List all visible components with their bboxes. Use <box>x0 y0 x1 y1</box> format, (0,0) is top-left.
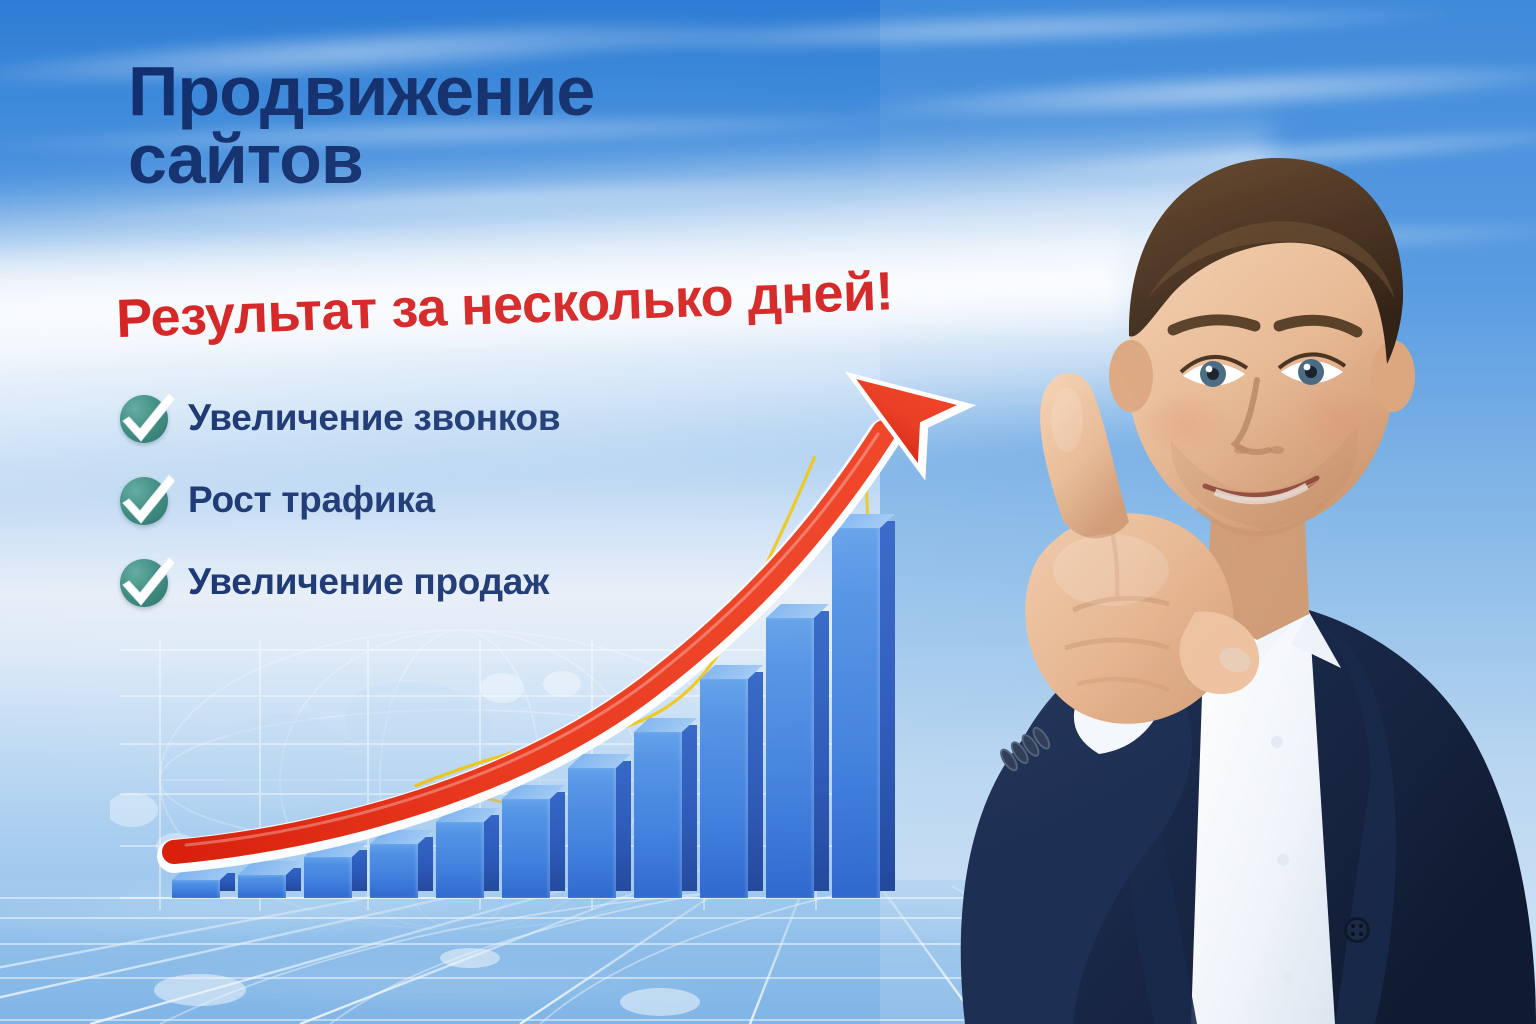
banner-root: Продвижение сайтов Результат за нескольк… <box>0 0 1536 1024</box>
benefit-label: Рост трафика <box>188 479 435 521</box>
check-circle-icon <box>118 473 172 527</box>
bar <box>832 528 880 898</box>
bar <box>766 618 814 899</box>
headline-line-2: сайтов <box>128 126 828 194</box>
businessman-pointing <box>905 0 1536 1024</box>
bar <box>172 880 220 898</box>
benefit-item: Увеличение продаж <box>118 546 738 618</box>
bar <box>502 799 550 898</box>
page-title: Продвижение сайтов <box>128 58 828 194</box>
bar <box>634 732 682 898</box>
benefit-label: Увеличение продаж <box>188 561 549 603</box>
headline-line-1: Продвижение <box>128 58 828 126</box>
benefits-list: Увеличение звонковРост трафикаУвеличение… <box>118 382 738 628</box>
check-circle-icon <box>118 391 172 445</box>
benefit-item: Увеличение звонков <box>118 382 738 454</box>
bar <box>370 844 418 898</box>
bar <box>436 822 484 899</box>
bar <box>238 875 286 898</box>
benefit-item: Рост трафика <box>118 464 738 536</box>
bar <box>700 679 748 898</box>
check-circle-icon <box>118 555 172 609</box>
bar <box>304 857 352 898</box>
benefit-label: Увеличение звонков <box>188 397 560 439</box>
bar <box>568 768 616 898</box>
